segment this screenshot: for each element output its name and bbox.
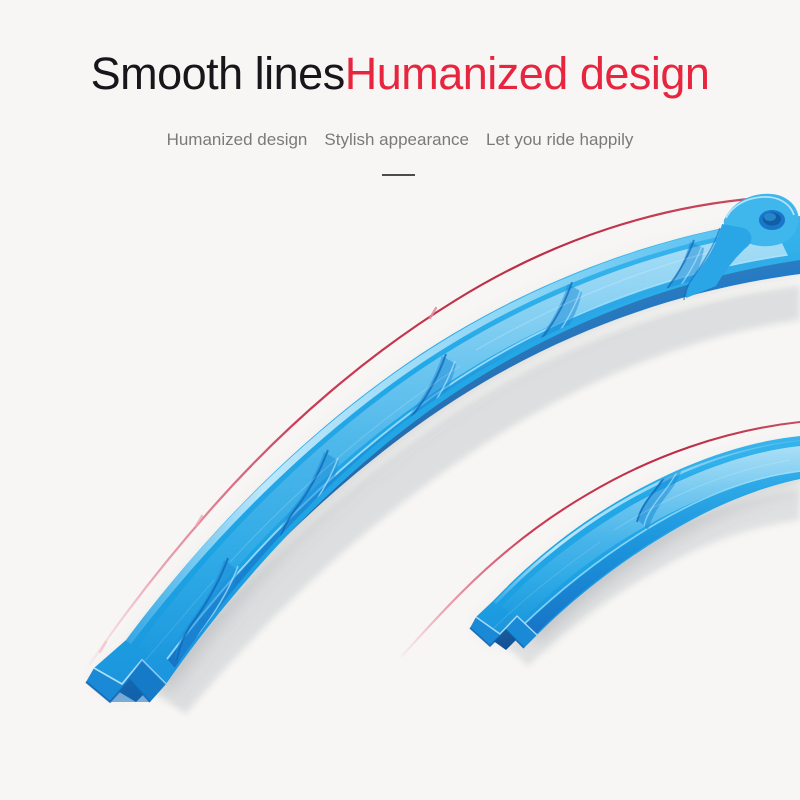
page-title: Smooth linesHumanized design [0, 48, 800, 100]
subtitle: Humanized designStylish appearanceLet yo… [0, 128, 800, 152]
title-divider [382, 174, 415, 176]
product-illustration [0, 190, 800, 800]
subtitle-item-1: Humanized design [167, 130, 308, 149]
product-photo [0, 190, 800, 800]
product-banner: Smooth linesHumanized design Humanized d… [0, 0, 800, 800]
headline-primary: Smooth lines [91, 48, 345, 99]
subtitle-item-3: Let you ride happily [486, 130, 633, 149]
subtitle-item-2: Stylish appearance [324, 130, 469, 149]
headline-accent: Humanized design [345, 48, 710, 99]
